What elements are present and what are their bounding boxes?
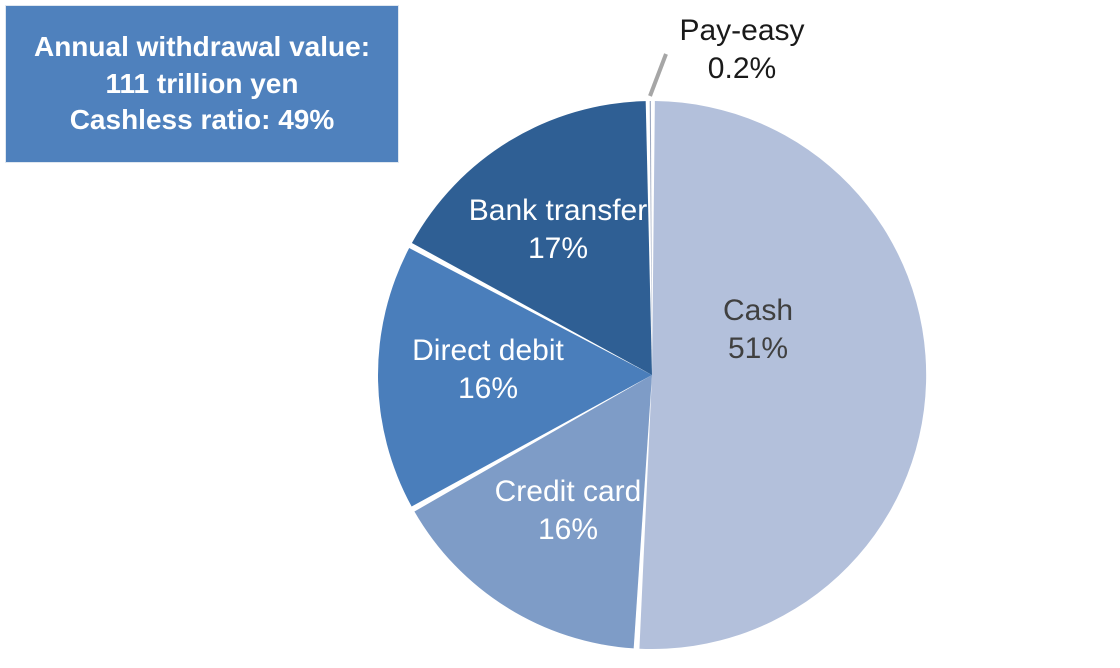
annual-withdrawal-callout: Annual withdrawal value: 111 trillion ye… xyxy=(5,5,399,163)
callout-line-1: Annual withdrawal value: xyxy=(34,29,370,66)
callout-line-3: Cashless ratio: 49% xyxy=(70,102,335,139)
callout-line-2: 111 trillion yen xyxy=(106,66,299,103)
